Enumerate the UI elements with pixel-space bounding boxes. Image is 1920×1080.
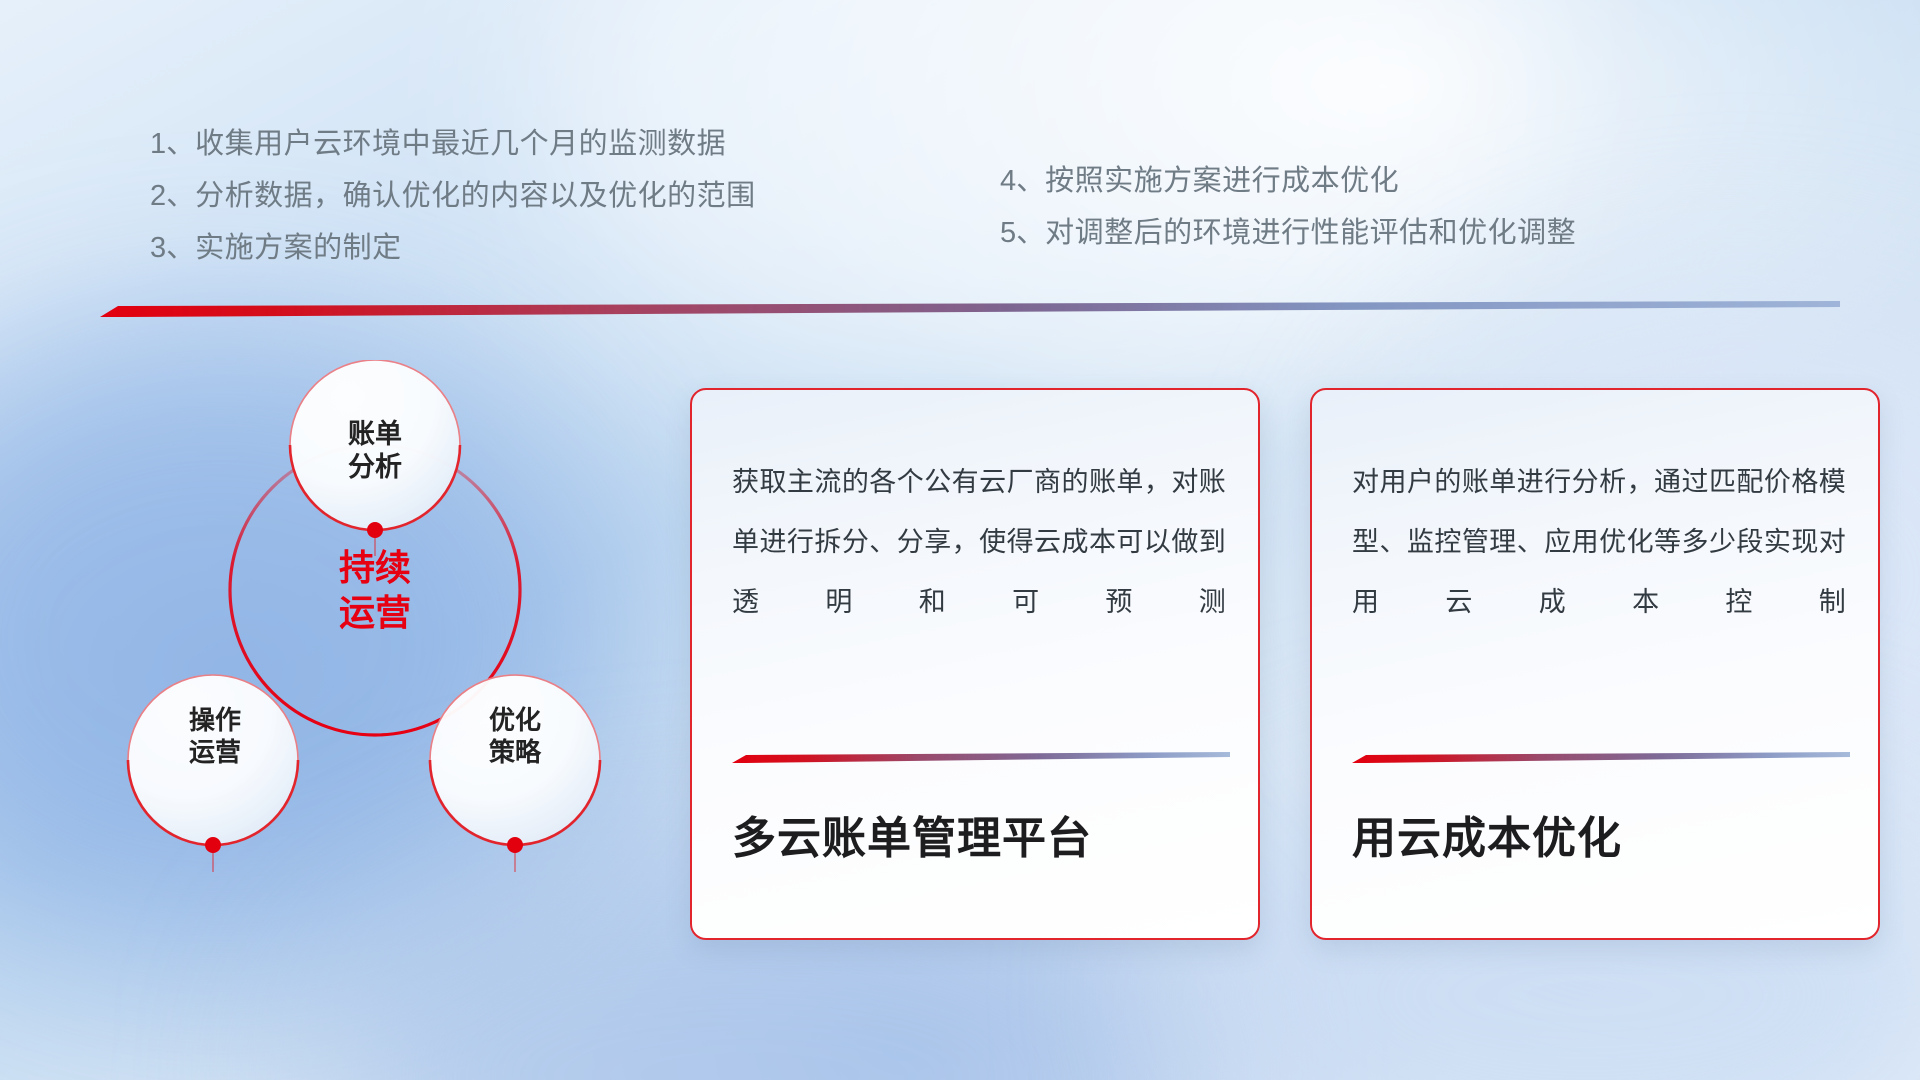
card-divider — [1352, 752, 1850, 764]
card-divider — [732, 752, 1230, 764]
section-divider — [100, 300, 1840, 318]
list-item-number: 4、 — [1000, 165, 1045, 197]
list-item: 5、对调整后的环境进行性能评估和优化调整 — [1000, 207, 1576, 259]
steps-left-column: 1、收集用户云环境中最近几个月的监测数据 2、分析数据，确认优化的内容以及优化的… — [150, 118, 756, 274]
card-body-text: 获取主流的各个公有云厂商的账单，对账单进行拆分、分享，使得云成本可以做到透明和可… — [732, 452, 1226, 632]
steps-right-column: 4、按照实施方案进行成本优化 5、对调整后的环境进行性能评估和优化调整 — [1000, 155, 1576, 259]
list-item: 2、分析数据，确认优化的内容以及优化的范围 — [150, 170, 756, 222]
list-item-number: 5、 — [1000, 217, 1045, 249]
list-item-text: 实施方案的制定 — [195, 232, 402, 264]
card-title: 用云成本优化 — [1352, 802, 1622, 866]
list-item-text: 按照实施方案进行成本优化 — [1045, 165, 1399, 197]
list-item: 4、按照实施方案进行成本优化 — [1000, 155, 1576, 207]
list-item: 1、收集用户云环境中最近几个月的监测数据 — [150, 118, 756, 170]
card-title: 多云账单管理平台 — [732, 802, 1092, 866]
card-multi-cloud-bill-platform[interactable]: 获取主流的各个公有云厂商的账单，对账单进行拆分、分享，使得云成本可以做到透明和可… — [690, 388, 1260, 940]
venn-diagram: 账单 分析 操作 运营 优化 策略 持续 运营 — [95, 360, 625, 930]
venn-node-top — [367, 522, 383, 556]
card-cloud-cost-optimization[interactable]: 对用户的账单进行分析，通过匹配价格模型、监控管理、应用优化等多少段实现对用云成本… — [1310, 388, 1880, 940]
list-item-number: 2、 — [150, 180, 195, 212]
venn-node-bottom-left — [205, 837, 221, 872]
venn-node-bottom-right — [507, 837, 523, 872]
slide-canvas: 1、收集用户云环境中最近几个月的监测数据 2、分析数据，确认优化的内容以及优化的… — [0, 0, 1920, 1080]
list-item-number: 1、 — [150, 128, 195, 160]
card-body-text: 对用户的账单进行分析，通过匹配价格模型、监控管理、应用优化等多少段实现对用云成本… — [1352, 452, 1846, 632]
list-item-text: 收集用户云环境中最近几个月的监测数据 — [195, 128, 726, 160]
list-item-number: 3、 — [150, 232, 195, 264]
list-item-text: 分析数据，确认优化的内容以及优化的范围 — [195, 180, 756, 212]
list-item: 3、实施方案的制定 — [150, 222, 756, 274]
list-item-text: 对调整后的环境进行性能评估和优化调整 — [1045, 217, 1576, 249]
